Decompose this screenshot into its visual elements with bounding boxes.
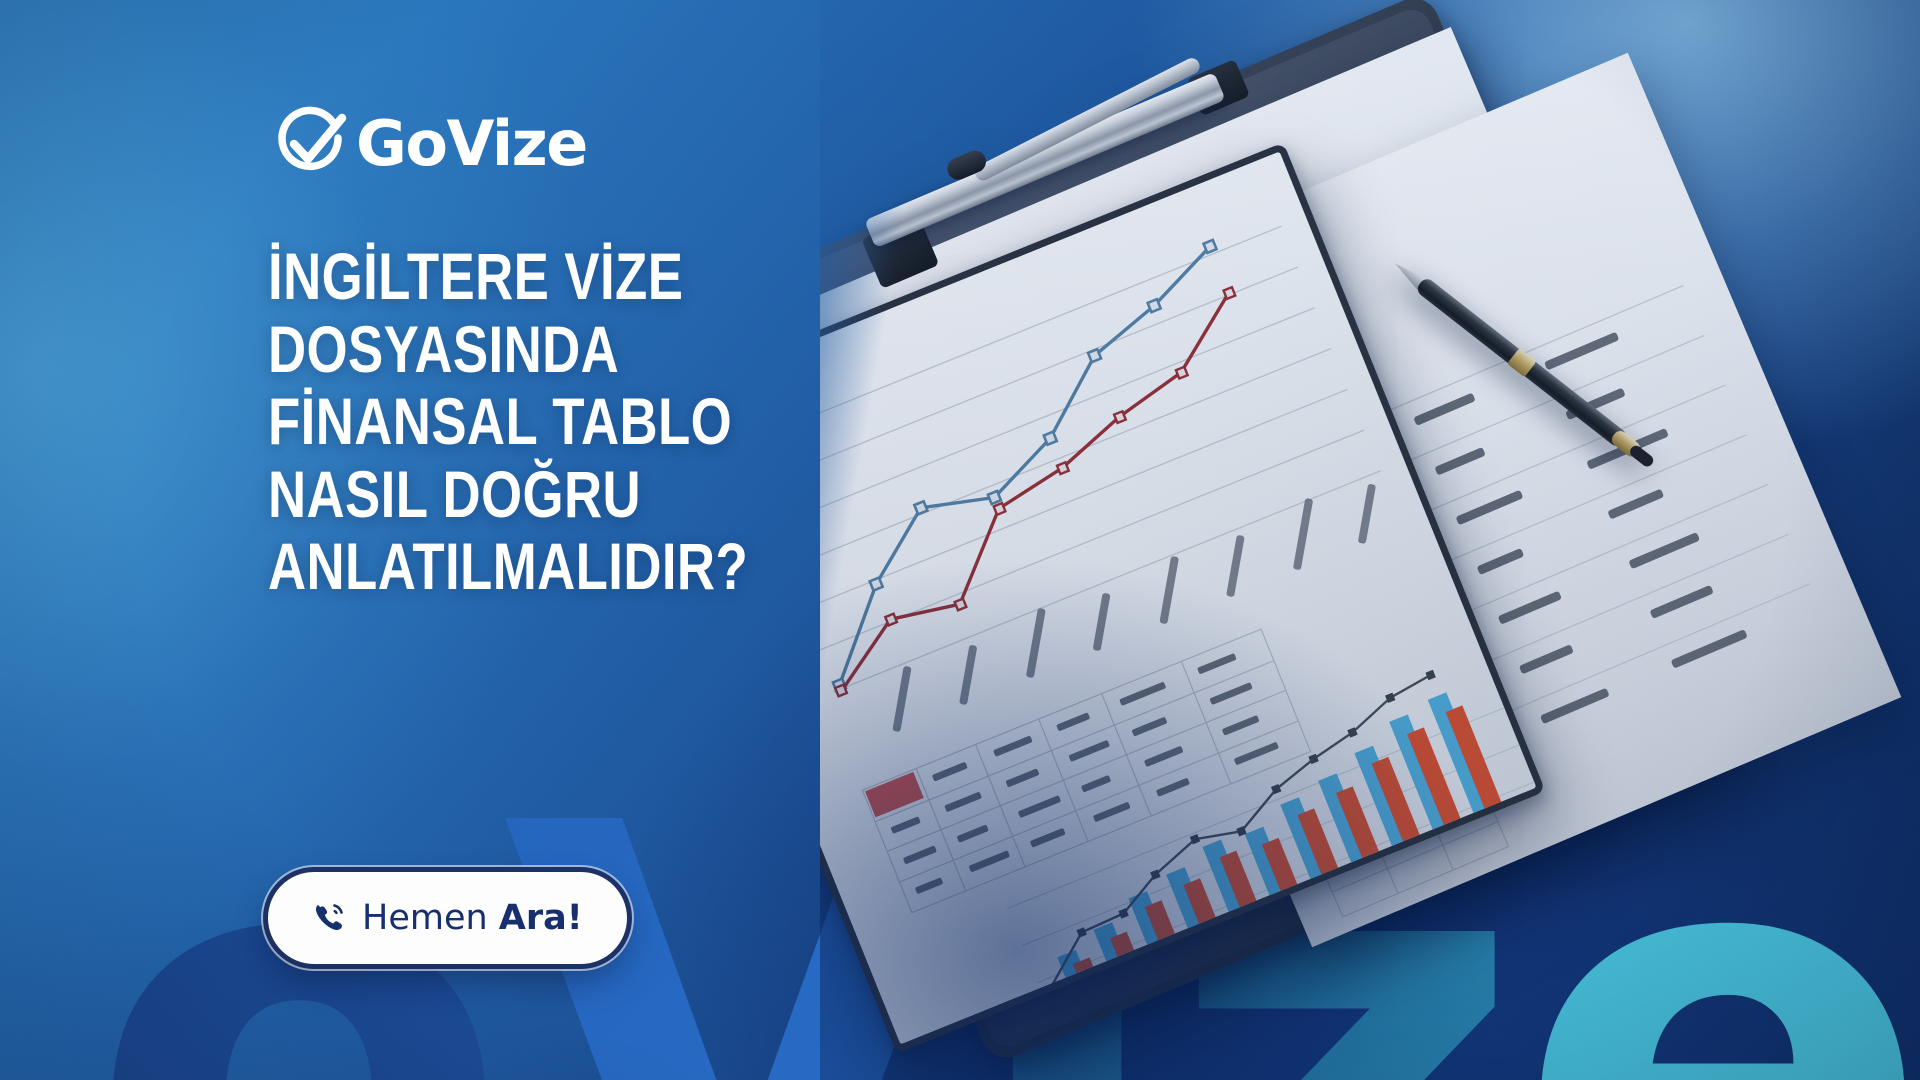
call-now-label: Hemen Ara! (362, 901, 583, 936)
brand-wordmark: GoVize (356, 113, 587, 175)
brand-logo[interactable]: GoVize (268, 104, 880, 184)
circle-check-icon (268, 104, 352, 184)
banner-canvas: oVize (0, 0, 1920, 1080)
headline-line-1: İNGİLTERE VİZE (268, 240, 1004, 313)
cta-text-regular: Hemen (362, 898, 499, 938)
headline-line-3: FİNANSAL TABLO (268, 385, 1004, 458)
headline-line-2: DOSYASINDA (268, 313, 1004, 386)
phone-call-icon (312, 901, 346, 935)
page-title: İNGİLTERE VİZE DOSYASINDA FİNANSAL TABLO… (268, 240, 1004, 603)
call-now-button[interactable]: Hemen Ara! (268, 872, 627, 964)
headline-line-4: NASIL DOĞRU (268, 458, 1004, 531)
headline-line-5: ANLATILMALIDIR? (268, 530, 1004, 603)
cta-text-bold: Ara! (499, 898, 583, 938)
